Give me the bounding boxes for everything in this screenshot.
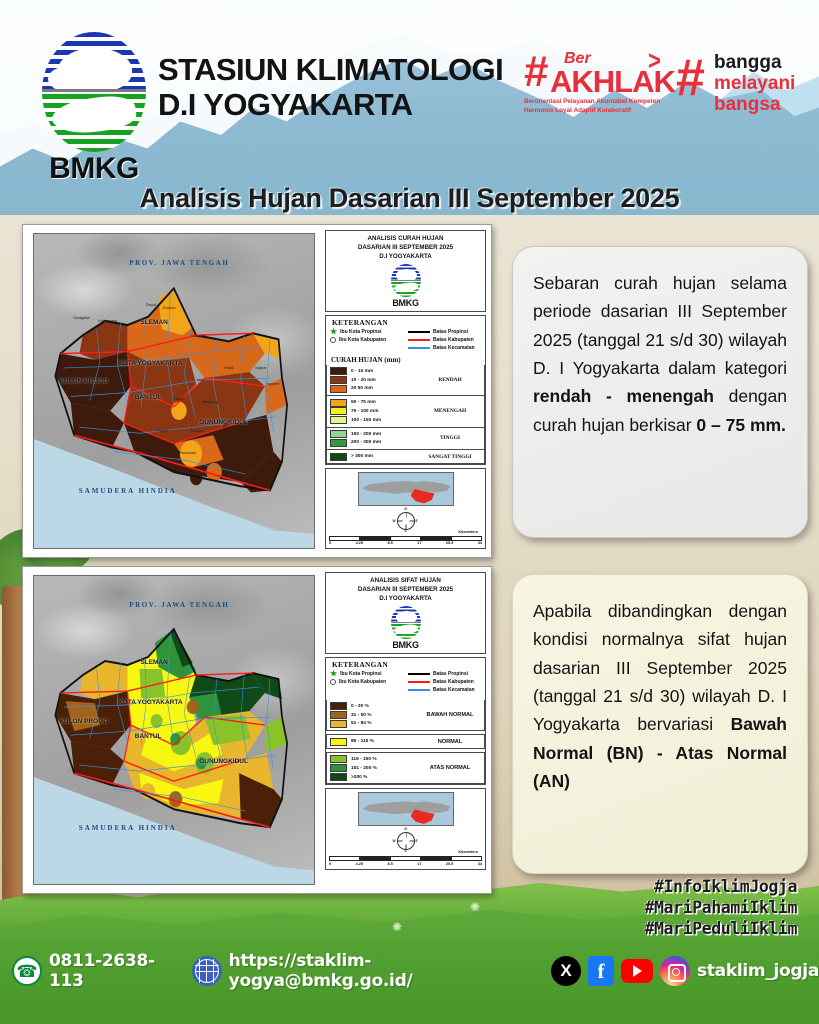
kabupaten-label-bantul: BANTUL: [135, 733, 162, 740]
bangga-line3: bangsa: [714, 94, 781, 116]
java-island-shape: [363, 798, 451, 820]
circle-icon: [330, 337, 336, 343]
bmkg-emblem-icon: [42, 32, 146, 152]
scalebar-tick: 0: [329, 862, 331, 866]
rainfall-keterangan-box: KETERANGAN ★ Ibu Kota Propinsi Ibu Kota …: [325, 315, 486, 465]
bmkg-emblem-icon: [391, 264, 421, 297]
sifat-hujan-map-figure[interactable]: PROV. JAWA TENGAH SAMUDERA HINDIA KULON …: [23, 567, 323, 893]
compass-ring: [397, 512, 415, 530]
legend-boundary-kabupaten: Batas Kabupaten: [408, 678, 482, 686]
kecamatan-label: Patuk: [224, 366, 233, 370]
kecamatan-label: Jetis: [196, 378, 203, 382]
map-scalebar: 0 4.25 8.5 17 25.5 34 Kilometers: [329, 536, 482, 546]
legend-title-line1: ANALISIS SIFAT HUJAN: [328, 577, 483, 586]
legend-group-atas-normal: 116 - 150 % 151 - 200 % >200 % ATAS NORM…: [326, 752, 485, 784]
scalebar-tick: 4.25: [356, 862, 363, 866]
chevron-right-icon: >: [648, 45, 661, 76]
legend-category-label: TINGGI: [419, 435, 481, 441]
compass-rose-icon: N S E W: [393, 508, 419, 534]
legend-item: 31 - 50 %: [330, 711, 419, 720]
hashtag-block: #InfoIklimJogja #MariPahamiIklim #MariPe…: [644, 876, 797, 939]
kecamatan-label: Panggang: [202, 400, 218, 404]
legend-item-label: 10 - 20 mm: [351, 378, 376, 383]
legend-category-label: SANGAT TINGGI: [419, 454, 481, 460]
inset-location-map: [358, 472, 454, 506]
legend-group-rendah: 0 - 10 mm 10 - 20 mm 20 50 mm RENDAH: [326, 365, 485, 396]
marker-label: Ibu Kota Kabupaten: [339, 678, 386, 686]
sifat-hujan-choropleth: [45, 613, 303, 853]
scalebar-segment: [360, 857, 390, 860]
province-label: PROV. JAWA TENGAH: [129, 259, 229, 267]
rainfall-legend-title: ANALISIS CURAH HUJAN DASARIAN III SEPTEM…: [326, 231, 485, 264]
legend-boundary-kecamatan: Batas Kecamatan: [408, 344, 482, 352]
kecamatan-label: Godean: [163, 306, 176, 310]
java-island-shape: [363, 478, 451, 500]
legend-item-label: 0 - 30 %: [351, 704, 369, 709]
bmkg-logo: BMKG: [36, 32, 152, 180]
legend-item: 116 - 150 %: [330, 755, 419, 764]
color-swatch: [330, 367, 347, 375]
bmkg-emblem-icon: [391, 606, 421, 639]
line-swatch-icon: [408, 347, 430, 350]
legend-boundary-propinsi: Batas Propinsi: [408, 328, 482, 336]
boundary-label: Batas Kabupaten: [433, 678, 474, 686]
scalebar-segment: [421, 537, 451, 540]
legend-item-label: 150 - 200 mm: [351, 432, 381, 437]
legend-boundary-kabupaten: Batas Kabupaten: [408, 336, 482, 344]
kecamatan-label: Rongkop: [244, 457, 258, 461]
scalebar-segment: [360, 537, 390, 540]
scalebar-tick: 25.5: [446, 541, 453, 545]
curah-hujan-heading: CURAH HUJAN (mm): [326, 355, 485, 365]
legend-marker-ibukota-propinsi: ★ Ibu Kota Propinsi: [330, 328, 404, 336]
footer-contact-bar: 0811-2638-113 https://staklim-yogya@bmkg…: [0, 944, 819, 998]
compass-west: W: [393, 519, 396, 523]
kabupaten-label-kulonprogo: KULON PROGO: [59, 718, 108, 725]
legend-item-label: 200 - 300 mm: [351, 440, 381, 445]
legend-item: 50 - 75 mm: [330, 398, 419, 407]
kecamatan-label: Dlingo: [174, 397, 184, 401]
bangga-melayani-bangsa-logo: # bangga melayani bangsa: [676, 52, 816, 122]
legend-item: 151 - 200 %: [330, 764, 419, 773]
scalebar-tick: 4.25: [356, 541, 363, 545]
color-swatch: [330, 407, 347, 415]
kecamatan-label: Semanu: [230, 435, 243, 439]
legend-bmkg-logo: BMKG: [326, 606, 485, 653]
color-swatch: [330, 764, 347, 772]
boundary-label: Batas Kecamatan: [433, 686, 475, 694]
legend-category-label: NORMAL: [419, 739, 481, 745]
legend-marker-ibukota-kabupaten: Ibu Kota Kabupaten: [330, 336, 404, 344]
legend-item-label: 116 - 150 %: [351, 757, 377, 762]
kecamatan-label: Tepus: [222, 470, 232, 474]
page-header: BMKG STASIUN KLIMATOLOGI D.I YOGYAKARTA …: [0, 0, 819, 180]
kecamatan-label: Depok: [146, 303, 156, 307]
legend-item: 75 - 100 mm: [330, 407, 419, 416]
page-title: Analisis Hujan Dasarian III September 20…: [0, 183, 819, 214]
scalebar-tick: 25.5: [446, 862, 453, 866]
bangga-line2: melayani: [714, 73, 795, 95]
province-label: PROV. JAWA TENGAH: [129, 601, 229, 609]
scalebar-segment: [452, 857, 481, 860]
bmkg-wordmark: BMKG: [36, 152, 152, 186]
kabupaten-label-sleman: SLEMAN: [140, 659, 167, 666]
line-swatch-icon: [408, 339, 430, 342]
rainfall-map-canvas[interactable]: PROV. JAWA TENGAH SAMUDERA HINDIA KULON …: [33, 233, 315, 549]
kabupaten-label-gunungkidul: GUNUNGKIDUL: [199, 758, 248, 765]
compass-east: E: [416, 519, 418, 523]
kabupaten-label-kulonprogo: KULON PROGO: [59, 378, 108, 385]
panel1-bold2: 0 – 75 mm.: [696, 415, 786, 435]
legend-group-menengah: 50 - 75 mm 75 - 100 mm 100 - 150 mm MENE…: [326, 396, 485, 427]
legend-bmkg-logo: BMKG: [326, 264, 485, 311]
color-swatch: [330, 399, 347, 407]
organization-title: STASIUN KLIMATOLOGI D.I YOGYAKARTA: [158, 52, 558, 123]
legend-title-line1: ANALISIS CURAH HUJAN: [328, 235, 483, 244]
youtube-icon[interactable]: [621, 959, 653, 983]
legend-item: 51 - 84 %: [330, 720, 419, 729]
legend-item-label: 51 - 84 %: [351, 721, 372, 726]
color-swatch: [330, 439, 347, 447]
facebook-icon[interactable]: f: [588, 956, 614, 986]
panel1-bold1: rendah - menengah: [533, 386, 714, 406]
compass-south: S: [405, 849, 407, 853]
bmkg-horizon-line: [42, 89, 146, 92]
legend-category-label: ATAS NORMAL: [419, 765, 481, 771]
legend-item-label: 151 - 200 %: [351, 766, 377, 771]
compass-east: E: [416, 839, 418, 843]
instagram-icon[interactable]: [660, 956, 690, 986]
legend-item-label: 85 - 115 %: [351, 739, 374, 744]
marker-label: Ibu Kota Kabupaten: [339, 336, 386, 344]
berakhlak-tagline: Berorientasi Pelayanan Akuntabel Kompete…: [524, 98, 684, 115]
legend-category-label: RENDAH: [419, 377, 481, 383]
kecamatan-label: Playen: [157, 429, 168, 433]
rainfall-character-summary-panel: Apabila dibandingkan dengan kondisi norm…: [512, 574, 808, 874]
scalebar-segment: [421, 857, 451, 860]
kabupaten-label-bantul: BANTUL: [135, 394, 162, 401]
legend-item: 10 - 20 mm: [330, 376, 419, 385]
color-swatch: [330, 720, 347, 728]
inset-location-map: [358, 792, 454, 826]
legend-boundary-kecamatan: Batas Kecamatan: [408, 686, 482, 694]
color-swatch: [330, 738, 347, 746]
legend-title-line2: DASARIAN III SEPTEMBER 2025: [328, 586, 483, 595]
scalebar-segment: [391, 857, 421, 860]
organization-title-line2: D.I YOGYAKARTA: [158, 87, 558, 122]
kabupaten-label-kota-yogyakarta: KOTA YOGYAKARTA: [118, 360, 183, 367]
legend-title-line2: DASARIAN III SEPTEMBER 2025: [328, 244, 483, 253]
sifat-hujan-legend-titlebox: ANALISIS SIFAT HUJAN DASARIAN III SEPTEM…: [325, 572, 486, 654]
keterangan-heading: KETERANGAN: [326, 658, 485, 670]
boundary-label: Batas Kecamatan: [433, 344, 475, 352]
line-swatch-icon: [408, 331, 430, 334]
bmkg-wordmark: BMKG: [392, 298, 418, 308]
legend-group-normal: 85 - 115 % NORMAL: [326, 734, 485, 749]
scalebar-tick: 17: [417, 541, 421, 545]
sifat-hujan-legend-column: ANALISIS SIFAT HUJAN DASARIAN III SEPTEM…: [323, 567, 491, 893]
kabupaten-label-gunungkidul: GUNUNGKIDUL: [199, 419, 248, 426]
kabupaten-label-kota-yogyakarta: KOTA YOGYAKARTA: [118, 699, 183, 706]
legend-category-label: MENENGAH: [419, 408, 481, 414]
sifat-hujan-legend-title: ANALISIS SIFAT HUJAN DASARIAN III SEPTEM…: [326, 573, 485, 606]
circle-icon: [330, 679, 336, 685]
kecamatan-label: Nglipar: [255, 366, 266, 370]
marker-label: Ibu Kota Propinsi: [340, 670, 381, 678]
legend-item: >200 %: [330, 773, 419, 782]
legend-item: 0 - 10 mm: [330, 367, 419, 376]
bmkg-horizon-line: [391, 280, 421, 281]
legend-category-label: BAWAH NORMAL: [419, 712, 481, 718]
color-swatch: [330, 711, 347, 719]
legend-item-label: 0 - 10 mm: [351, 369, 373, 374]
rainfall-inset-box: N S E W 0 4.25 8.5 17 25.5: [325, 468, 486, 550]
line-swatch-icon: [408, 681, 430, 684]
kecamatan-label: Purwosari: [180, 451, 196, 455]
color-swatch: [330, 416, 347, 424]
scalebar-segment: [330, 537, 360, 540]
legend-item: 85 - 115 %: [330, 737, 419, 746]
legend-title-line3: D.I YOGYAKARTA: [328, 595, 483, 604]
scalebar-tick: 8.5: [387, 541, 392, 545]
scalebar-tick: 8.5: [387, 862, 392, 866]
compass-south: S: [405, 529, 407, 533]
legend-boundary-propinsi: Batas Propinsi: [408, 670, 482, 678]
sea-label: SAMUDERA HINDIA: [79, 824, 177, 832]
rainfall-legend-titlebox: ANALISIS CURAH HUJAN DASARIAN III SEPTEM…: [325, 230, 486, 312]
legend-marker-ibukota-kabupaten: Ibu Kota Kabupaten: [330, 678, 404, 686]
sifat-hujan-map-canvas[interactable]: PROV. JAWA TENGAH SAMUDERA HINDIA KULON …: [33, 575, 315, 885]
color-swatch: [330, 385, 347, 393]
bmkg-horizon-line: [391, 622, 421, 623]
legend-item: 20 50 mm: [330, 385, 419, 394]
kecamatan-label: Kalibawang: [98, 319, 117, 323]
scalebar-tick: 34: [478, 541, 482, 545]
boundary-label: Batas Kabupaten: [433, 336, 474, 344]
butterfly-icon: ✺: [392, 920, 402, 934]
compass-north: N: [405, 507, 407, 511]
scalebar-segment: [452, 537, 481, 540]
color-swatch: [330, 755, 347, 763]
star-icon: ★: [330, 328, 337, 336]
color-swatch: [330, 773, 347, 781]
globe-icon[interactable]: [192, 956, 222, 986]
legend-item: 0 - 30 %: [330, 702, 419, 711]
legend-item: 150 - 200 mm: [330, 430, 419, 439]
scalebar-unit: Kilometers: [458, 850, 478, 854]
sifat-hujan-keterangan-box: KETERANGAN ★ Ibu Kota Propinsi Ibu Kota …: [325, 657, 486, 785]
bangga-line1: bangga: [714, 52, 782, 74]
scalebar-segment: [330, 857, 360, 860]
keterangan-heading: KETERANGAN: [326, 316, 485, 328]
rainfall-summary-panel: Sebaran curah hujan selama periode dasar…: [512, 246, 808, 538]
scalebar-tick: 17: [417, 862, 421, 866]
kabupaten-label-sleman: SLEMAN: [140, 319, 167, 326]
hashtag-mari-peduli-iklim: #MariPeduliIklim: [644, 918, 797, 939]
scalebar-segment: [391, 537, 421, 540]
color-swatch: [330, 702, 347, 710]
star-icon: ★: [330, 670, 337, 678]
kecamatan-label: Paliyan: [191, 429, 203, 433]
hashtag-mari-pahami-iklim: #MariPahamiIklim: [644, 897, 797, 918]
legend-item-label: 31 - 50 %: [351, 713, 372, 718]
panel1-text-part1: Sebaran curah hujan selama periode dasar…: [533, 273, 787, 378]
marker-label: Ibu Kota Propinsi: [340, 328, 381, 336]
bangga-hash-icon: #: [676, 52, 705, 104]
compass-rose-icon: N S E W: [393, 828, 419, 854]
boundary-label: Batas Propinsi: [433, 328, 468, 336]
compass-north: N: [405, 827, 407, 831]
legend-item: 100 - 150 mm: [330, 416, 419, 425]
legend-group-tinggi: 150 - 200 mm 200 - 300 mm TINGGI: [326, 428, 485, 451]
legend-group-bawah-normal: 0 - 30 % 31 - 50 % 51 - 84 % BAWAH NORMA…: [326, 700, 485, 731]
hashtag-info-iklim-jogja: #InfoIklimJogja: [644, 876, 797, 897]
boundary-label: Batas Propinsi: [433, 670, 468, 678]
scalebar-tick: 0: [329, 541, 331, 545]
footer-phone: 0811-2638-113: [49, 951, 185, 991]
rainfall-analysis-map-card: PROV. JAWA TENGAH SAMUDERA HINDIA KULON …: [22, 224, 492, 558]
footer-website[interactable]: https://staklim-yogya@bmkg.go.id/: [229, 951, 544, 991]
sea-label: SAMUDERA HINDIA: [79, 487, 177, 495]
footer-social-handle: staklim_jogja: [697, 961, 819, 981]
organization-title-line1: STASIUN KLIMATOLOGI: [158, 52, 558, 87]
legend-group-sangat-tinggi: > 300 mm SANGAT TINGGI: [326, 450, 485, 464]
line-swatch-icon: [408, 673, 430, 676]
legend-item-label: 100 - 150 mm: [351, 418, 381, 423]
rainfall-map-figure[interactable]: PROV. JAWA TENGAH SAMUDERA HINDIA KULON …: [23, 225, 323, 557]
color-swatch: [330, 376, 347, 384]
compass-west: W: [393, 839, 396, 843]
x-twitter-icon[interactable]: X: [551, 956, 581, 986]
legend-item-label: >200 %: [351, 775, 367, 780]
rainfall-legend-column: ANALISIS CURAH HUJAN DASARIAN III SEPTEM…: [323, 225, 491, 557]
legend-item: > 300 mm: [330, 452, 419, 461]
compass-ring: [397, 832, 415, 850]
legend-item-label: > 300 mm: [351, 454, 373, 459]
legend-item-label: 20 50 mm: [351, 386, 373, 391]
legend-item-label: 75 - 100 mm: [351, 409, 378, 414]
legend-title-line3: D.I YOGYAKARTA: [328, 253, 483, 262]
bmkg-wordmark: BMKG: [392, 640, 418, 650]
color-swatch: [330, 430, 347, 438]
line-swatch-icon: [408, 689, 430, 692]
legend-item-label: 50 - 75 mm: [351, 400, 376, 405]
scalebar-unit: Kilometers: [458, 530, 478, 534]
sifat-hujan-inset-box: N S E W 0 4.25 8.5 17 25.5: [325, 788, 486, 870]
kecamatan-label: Samigaluh: [73, 316, 90, 320]
kecamatan-label: Gamping: [191, 334, 206, 338]
scalebar-tick: 34: [478, 862, 482, 866]
kecamatan-label: Ngawen: [266, 382, 279, 386]
legend-marker-ibukota-propinsi: ★ Ibu Kota Propinsi: [330, 670, 404, 678]
map-scalebar: 0 4.25 8.5 17 25.5 34 Kilometers: [329, 856, 482, 866]
whatsapp-icon[interactable]: [12, 956, 42, 986]
legend-item: 200 - 300 mm: [330, 438, 419, 447]
color-swatch: [330, 453, 347, 461]
butterfly-icon: ✺: [470, 900, 480, 914]
rainfall-character-map-card: PROV. JAWA TENGAH SAMUDERA HINDIA KULON …: [22, 566, 492, 894]
berakhlak-hash: #: [524, 50, 548, 94]
